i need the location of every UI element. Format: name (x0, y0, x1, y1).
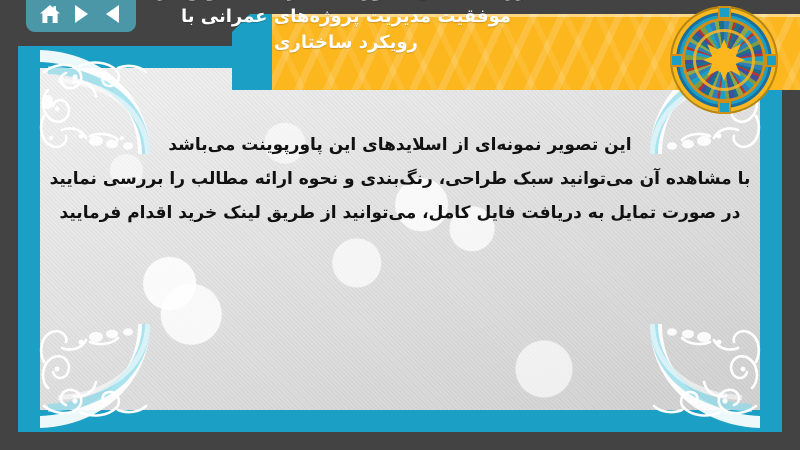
slide-viewer: این تصویر نمونه‌ای از اسلایدهای این پاور… (0, 0, 800, 450)
home-icon (39, 4, 61, 24)
bottom-strip (0, 432, 800, 450)
medallion-knob-right (765, 54, 778, 67)
slide-body-text: این تصویر نمونه‌ای از اسلایدهای این پاور… (40, 128, 760, 230)
next-slide-button[interactable] (68, 2, 94, 26)
body-line-3: در صورت تمایل به دریافت فایل کامل، می‌تو… (40, 196, 760, 230)
triangle-left-icon (106, 5, 119, 23)
medallion-knob-left (670, 54, 683, 67)
home-button[interactable] (37, 2, 63, 26)
body-line-1: این تصویر نمونه‌ای از اسلایدهای این پاور… (40, 128, 760, 162)
navigation-bar (26, 0, 136, 32)
medallion-star (703, 39, 745, 81)
medallion-knob-top (718, 6, 731, 19)
medallion-knob-bottom (718, 101, 731, 114)
triangle-right-icon (75, 5, 88, 23)
prev-slide-button[interactable] (99, 2, 125, 26)
slide-canvas (40, 68, 760, 410)
slide-frame (18, 46, 782, 432)
body-line-2: با مشاهده آن می‌توانید سبک طراحی، رنگ‌بن… (40, 162, 760, 196)
persian-medallion-icon (672, 8, 776, 112)
